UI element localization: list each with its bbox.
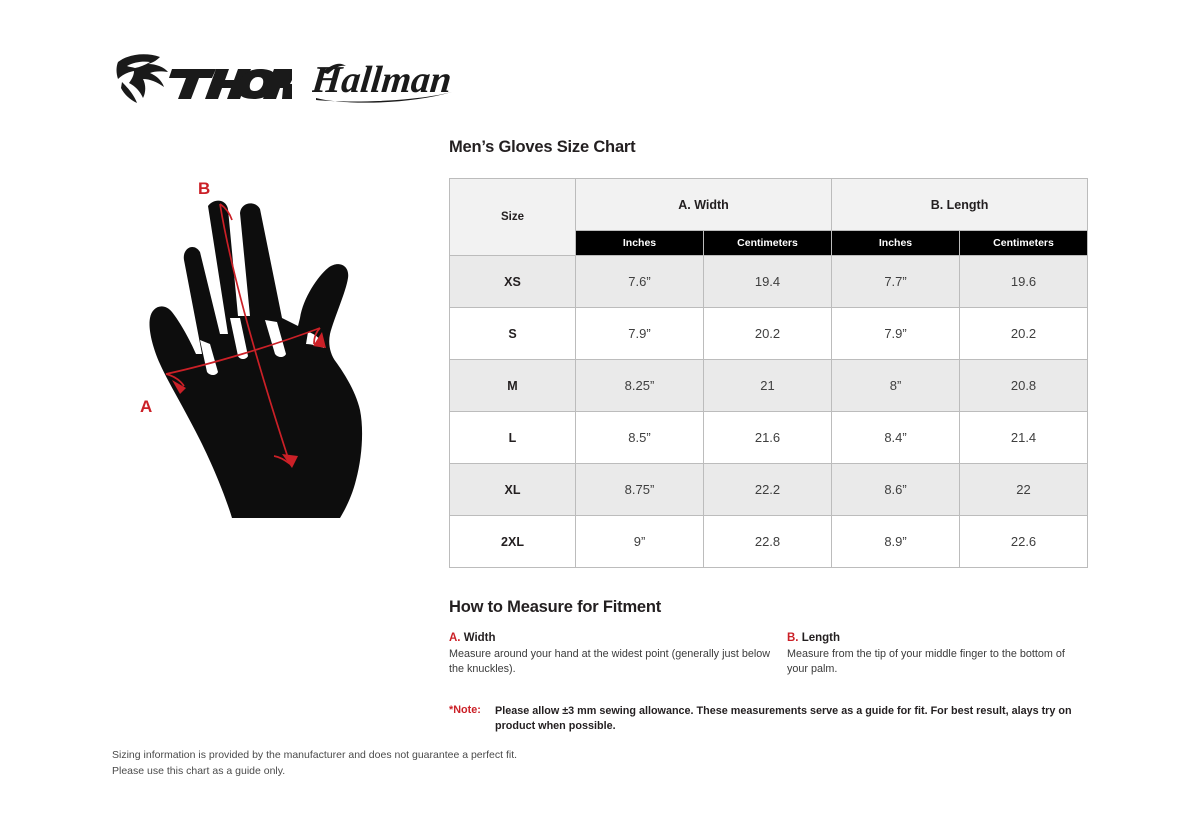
cell-length-inches: 8.9” <box>832 516 960 568</box>
note-text: Please allow ±3 mm sewing allowance. The… <box>495 704 1080 735</box>
cell-width-centimeters: 21 <box>704 360 832 412</box>
measure-width-block: A. Width Measure around your hand at the… <box>449 632 787 678</box>
table-row: L 8.5” 21.6 8.4” 21.4 <box>450 412 1088 464</box>
cell-size: L <box>450 412 576 464</box>
column-header-length-centimeters: Centimeters <box>960 231 1088 256</box>
hallman-logo: Hallman <box>312 52 460 108</box>
footer-line-2: Please use this chart as a guide only. <box>112 763 517 779</box>
cell-width-inches: 8.75” <box>576 464 704 516</box>
measure-width-title: A. Width <box>449 632 775 644</box>
column-header-size: Size <box>450 179 576 256</box>
how-to-measure-section: How to Measure for Fitment A. Width Meas… <box>449 598 1089 678</box>
cell-width-inches: 9” <box>576 516 704 568</box>
cell-size: XL <box>450 464 576 516</box>
measure-width-letter: A. <box>449 632 461 644</box>
cell-width-centimeters: 19.4 <box>704 256 832 308</box>
table-row: M 8.25” 21 8” 20.8 <box>450 360 1088 412</box>
cell-length-centimeters: 21.4 <box>960 412 1088 464</box>
cell-length-inches: 8.4” <box>832 412 960 464</box>
hand-measurement-diagram: B A <box>122 168 422 538</box>
column-header-width-centimeters: Centimeters <box>704 231 832 256</box>
page-title: Men’s Gloves Size Chart <box>449 138 1089 157</box>
cell-width-inches: 8.25” <box>576 360 704 412</box>
table-head: Size A. Width B. Length Inches Centimete… <box>450 179 1088 256</box>
brand-logo-bar: Hallman <box>112 50 472 112</box>
cell-width-centimeters: 22.8 <box>704 516 832 568</box>
column-group-width: A. Width <box>576 179 832 231</box>
size-chart-panel: Men’s Gloves Size Chart Size A. Width B.… <box>449 138 1089 735</box>
cell-length-centimeters: 22.6 <box>960 516 1088 568</box>
table-group-header-row: Size A. Width B. Length <box>450 179 1088 231</box>
thor-logo <box>112 50 292 108</box>
cell-width-centimeters: 21.6 <box>704 412 832 464</box>
measure-width-name: Width <box>461 632 496 644</box>
cell-length-centimeters: 22 <box>960 464 1088 516</box>
cell-length-inches: 7.9” <box>832 308 960 360</box>
cell-length-centimeters: 20.2 <box>960 308 1088 360</box>
table-row: XS 7.6” 19.4 7.7” 19.6 <box>450 256 1088 308</box>
size-chart-table: Size A. Width B. Length Inches Centimete… <box>449 178 1088 568</box>
column-header-length-inches: Inches <box>832 231 960 256</box>
cell-length-centimeters: 20.8 <box>960 360 1088 412</box>
note-label: *Note: <box>449 704 495 735</box>
hand-silhouette <box>149 201 362 518</box>
cell-size: S <box>450 308 576 360</box>
measure-length-block: B. Length Measure from the tip of your m… <box>787 632 1087 678</box>
how-to-measure-heading: How to Measure for Fitment <box>449 598 1089 617</box>
table-body: XS 7.6” 19.4 7.7” 19.6 S 7.9” 20.2 7.9” … <box>450 256 1088 568</box>
cell-width-centimeters: 22.2 <box>704 464 832 516</box>
cell-size: XS <box>450 256 576 308</box>
measure-length-letter: B. <box>787 632 799 644</box>
table-row: XL 8.75” 22.2 8.6” 22 <box>450 464 1088 516</box>
measure-width-text: Measure around your hand at the widest p… <box>449 647 775 678</box>
cell-width-inches: 8.5” <box>576 412 704 464</box>
cell-width-inches: 7.9” <box>576 308 704 360</box>
diagram-label-b: B <box>198 179 210 198</box>
cell-length-inches: 8.6” <box>832 464 960 516</box>
cell-width-centimeters: 20.2 <box>704 308 832 360</box>
cell-width-inches: 7.6” <box>576 256 704 308</box>
diagram-label-a: A <box>140 397 152 416</box>
column-group-length: B. Length <box>832 179 1088 231</box>
note-row: *Note: Please allow ±3 mm sewing allowan… <box>449 704 1089 735</box>
footer-line-1: Sizing information is provided by the ma… <box>112 747 517 763</box>
footer-disclaimer: Sizing information is provided by the ma… <box>112 747 517 780</box>
measure-length-name: Length <box>799 632 841 644</box>
column-header-width-inches: Inches <box>576 231 704 256</box>
cell-length-inches: 8” <box>832 360 960 412</box>
measure-length-text: Measure from the tip of your middle fing… <box>787 647 1075 678</box>
cell-length-centimeters: 19.6 <box>960 256 1088 308</box>
cell-size: M <box>450 360 576 412</box>
cell-size: 2XL <box>450 516 576 568</box>
cell-length-inches: 7.7” <box>832 256 960 308</box>
table-row: S 7.9” 20.2 7.9” 20.2 <box>450 308 1088 360</box>
table-row: 2XL 9” 22.8 8.9” 22.6 <box>450 516 1088 568</box>
measure-length-title: B. Length <box>787 632 1075 644</box>
